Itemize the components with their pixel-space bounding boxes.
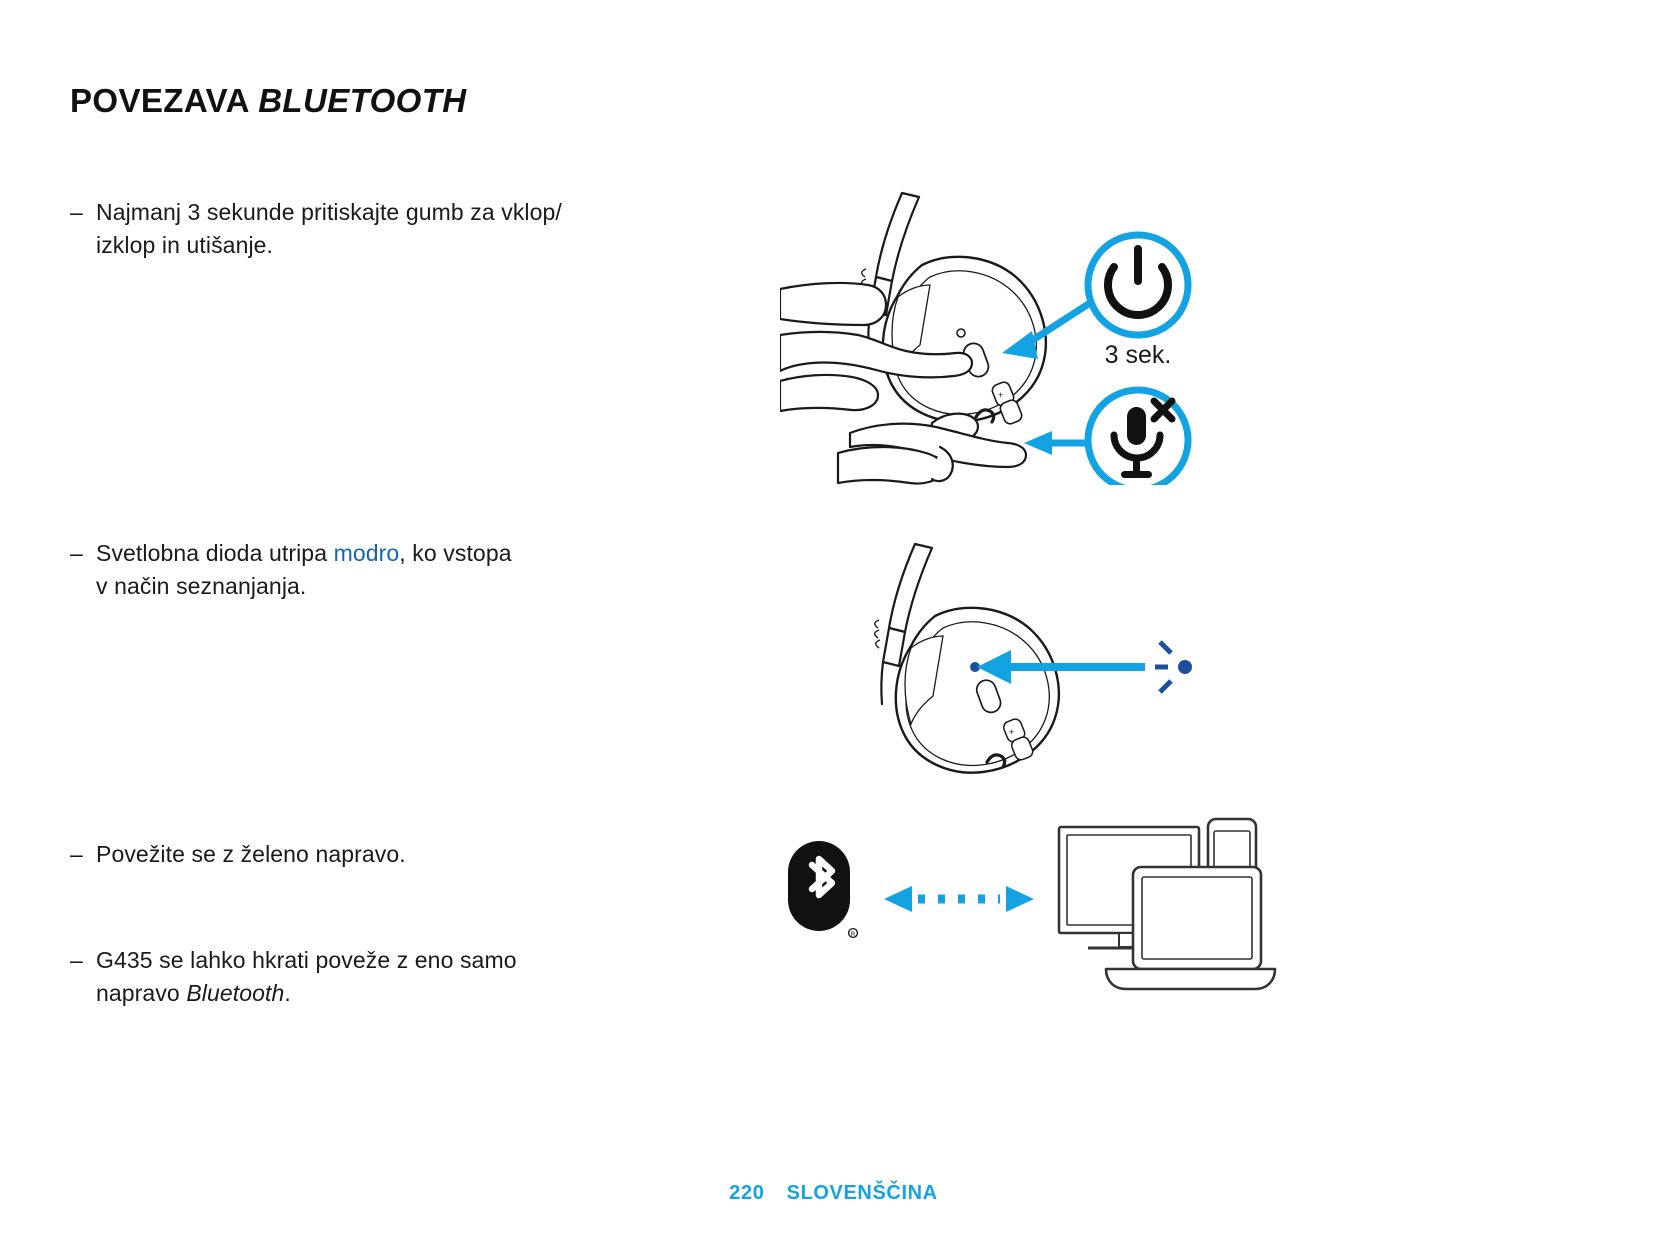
arrow-to-led xyxy=(977,650,1145,684)
instruction-line-2-post: . xyxy=(284,980,291,1006)
instruction-line-1: Povežite se z želeno napravo. xyxy=(96,841,406,867)
page-title-main: POVEZAVA xyxy=(70,82,249,119)
list-item: – Najmanj 3 sekunde pritiskajte gumb za … xyxy=(70,196,630,262)
manual-page: POVEZAVA BLUETOOTH – Najmanj 3 sekunde p… xyxy=(0,0,1667,1250)
instruction-line-1: G435 se lahko hkrati poveže z eno samo xyxy=(96,947,517,973)
power-icon-badge xyxy=(1088,235,1188,335)
headset-power-and-mute-illustration: + xyxy=(780,185,1210,485)
hand-lower xyxy=(838,414,1026,484)
hold-duration-label: 3 sek. xyxy=(1105,341,1172,369)
instruction-line-2: izklop in utišanje. xyxy=(96,232,273,258)
bluetooth-logo-icon: R xyxy=(788,841,857,938)
page-footer: 220 SLOVENŠČINA xyxy=(0,1182,1667,1205)
bullet-dash: – xyxy=(70,537,96,570)
blinking-led-icon xyxy=(1155,642,1192,692)
page-title: POVEZAVA BLUETOOTH xyxy=(70,82,467,120)
instruction-accent-word: modro xyxy=(334,540,400,566)
instruction-line-2-pre: napravo xyxy=(96,980,186,1006)
headband-adjuster xyxy=(875,620,880,648)
instruction-line-1: Najmanj 3 sekunde pritiskajte gumb za vk… xyxy=(96,199,562,225)
instruction-text: G435 se lahko hkrati poveže z eno samo n… xyxy=(96,944,517,1010)
list-item: – Svetlobna dioda utripa modro, ko vstop… xyxy=(70,537,630,603)
mute-icon-badge xyxy=(1088,390,1188,485)
list-item: – G435 se lahko hkrati poveže z eno samo… xyxy=(70,944,630,1010)
svg-text:+: + xyxy=(998,390,1003,400)
bullet-dash: – xyxy=(70,838,96,871)
pairing-link-arrow xyxy=(884,886,1034,912)
svg-text:+: + xyxy=(1009,727,1014,737)
page-title-emphasis: BLUETOOTH xyxy=(258,82,466,119)
footer-language: SLOVENŠČINA xyxy=(787,1182,938,1204)
led-indicator xyxy=(957,329,965,337)
instruction-line-1-post: , ko vstopa xyxy=(399,540,511,566)
registered-trademark: R xyxy=(851,932,856,938)
instruction-line-1-pre: Svetlobna dioda utripa xyxy=(96,540,334,566)
footer-page-number: 220 xyxy=(729,1182,764,1204)
list-item: – Povežite se z želeno napravo. xyxy=(70,838,630,871)
instruction-text: Najmanj 3 sekunde pritiskajte gumb za vk… xyxy=(96,196,562,262)
bullet-dash: – xyxy=(70,196,96,229)
instruction-text: Svetlobna dioda utripa modro, ko vstopa … xyxy=(96,537,512,603)
headset-led-blink-illustration: + xyxy=(855,540,1195,815)
bullet-dash: – xyxy=(70,944,96,977)
instruction-line-2-italic: Bluetooth xyxy=(186,980,284,1006)
instruction-text: Povežite se z želeno napravo. xyxy=(96,838,406,871)
instruction-line-2: v način seznanjanja. xyxy=(96,573,306,599)
bluetooth-pairing-devices-illustration: R xyxy=(780,815,1280,1015)
